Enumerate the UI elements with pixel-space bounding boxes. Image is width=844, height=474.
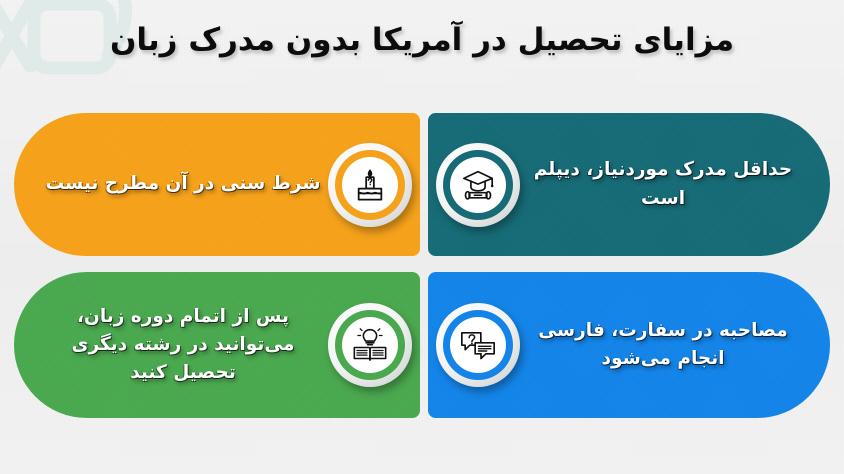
card-embassy-interview-text: مصاحبه در سفارت، فارسی انجام می‌شود <box>522 317 804 373</box>
card-age-badge <box>328 143 412 227</box>
card-diploma-text: حداقل مدرک موردنیاز، دیپلم است <box>522 156 804 212</box>
card-embassy-interview: مصاحبه در سفارت، فارسی انجام می‌شود <box>428 272 830 418</box>
card-change-field-badge <box>328 303 412 387</box>
card-age-requirement: شرط سنی در آن مطرح نیست <box>14 113 420 256</box>
book-lightbulb-icon <box>342 317 398 373</box>
card-change-field-text: پس از اتمام دوره زبان، می‌توانید در رشته… <box>40 303 326 387</box>
card-diploma-badge <box>436 143 520 227</box>
card-embassy-interview-badge <box>436 303 520 387</box>
infographic-canvas: مزایای تحصیل در آمریکا بدون مدرک زبان شر… <box>0 0 844 474</box>
chat-bubbles-question-icon <box>450 317 506 373</box>
graduation-diploma-icon <box>450 157 506 213</box>
card-diploma-requirement: حداقل مدرک موردنیاز، دیپلم است <box>428 113 830 256</box>
birthday-cake-icon <box>342 157 398 213</box>
card-age-text: شرط سنی در آن مطرح نیست <box>40 170 326 198</box>
page-title: مزایای تحصیل در آمریکا بدون مدرک زبان <box>0 18 844 63</box>
card-change-field: پس از اتمام دوره زبان، می‌توانید در رشته… <box>14 272 420 418</box>
